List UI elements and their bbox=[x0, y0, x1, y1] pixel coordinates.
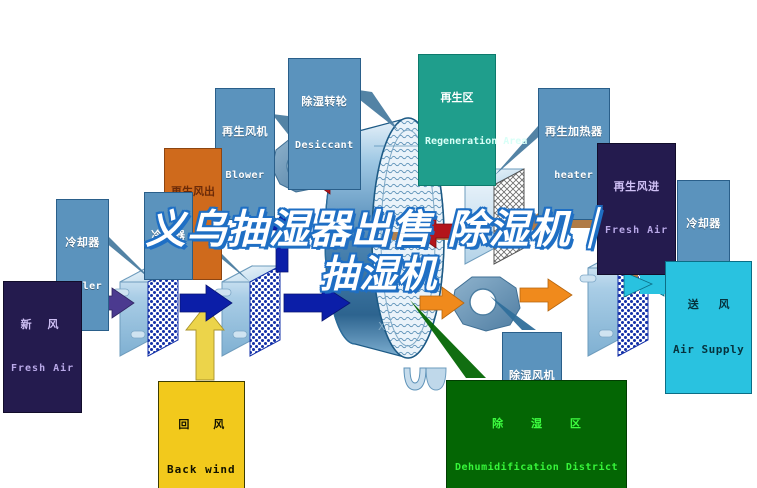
arrow-supply-out bbox=[624, 272, 666, 297]
label-fresh-air[interactable]: 新 风 Fresh Air bbox=[3, 281, 82, 413]
arrow-process-up bbox=[270, 214, 294, 272]
label-desiccant-cn: 除湿转轮 bbox=[295, 96, 354, 108]
label-regeneration-fresh-air[interactable]: 再生风进 Fresh Air bbox=[597, 143, 676, 275]
arrow-back-wind bbox=[186, 306, 224, 380]
label-fresh-air-cn: 新 风 bbox=[11, 319, 74, 331]
label-air-supply-cn: 送 风 bbox=[673, 299, 744, 311]
label-regeneration-fresh-air-cn: 再生风进 bbox=[605, 181, 668, 193]
label-cooler-mid-cn: 冷却器 bbox=[151, 230, 186, 242]
label-regeneration-heater-cn: 再生加热器 bbox=[545, 126, 603, 138]
label-cooler-mid[interactable]: 冷却器 bbox=[144, 192, 193, 280]
label-dehumidification-district[interactable]: 除 湿 区 Dehumidification District bbox=[446, 380, 627, 488]
label-cooler-left-cn: 冷却器 bbox=[63, 237, 102, 249]
label-desiccant-en: Desiccant bbox=[295, 141, 354, 152]
label-regeneration-heater-en: heater bbox=[545, 171, 603, 182]
label-regeneration-blower[interactable]: 再生风机 Blower bbox=[215, 88, 275, 220]
label-cooler-right-cn: 冷却器 bbox=[684, 218, 723, 230]
label-regeneration-area[interactable]: 再生区 Regeneration Area bbox=[418, 54, 496, 186]
label-regeneration-blower-cn: 再生风机 bbox=[222, 126, 268, 138]
svg-text:XT: XT bbox=[378, 320, 392, 333]
label-desiccant[interactable]: 除湿转轮 Desiccant bbox=[288, 58, 361, 190]
drain-pan bbox=[404, 368, 446, 390]
label-fresh-air-en: Fresh Air bbox=[11, 364, 74, 375]
label-back-wind[interactable]: 回 风 Back wind bbox=[158, 381, 245, 488]
label-regeneration-area-cn: 再生区 bbox=[425, 92, 489, 104]
label-air-supply-en: Air Supply bbox=[673, 344, 744, 356]
arrow-dehum-2 bbox=[520, 279, 572, 311]
label-air-supply[interactable]: 送 风 Air Supply bbox=[665, 261, 752, 394]
diagram-canvas: XT bbox=[0, 0, 757, 488]
label-dehumidification-district-en: Dehumidification District bbox=[455, 463, 618, 474]
label-back-wind-en: Back wind bbox=[167, 464, 236, 476]
label-back-wind-cn: 回 风 bbox=[167, 419, 236, 431]
label-dehumidification-district-cn: 除 湿 区 bbox=[455, 418, 618, 430]
label-regeneration-area-en: Regeneration Area bbox=[425, 137, 489, 148]
label-regeneration-blower-en: Blower bbox=[222, 171, 268, 182]
label-regeneration-fresh-air-en: Fresh Air bbox=[605, 226, 668, 237]
